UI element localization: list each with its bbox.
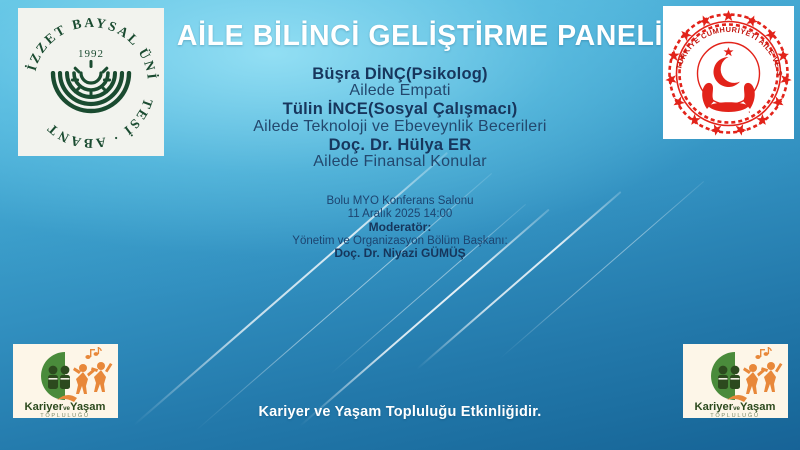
- crescent-icon: [713, 57, 740, 87]
- footer-note: Kariyer ve Yaşam Topluluğu Etkinliğidir.: [0, 404, 800, 420]
- speaker-topic-1: Ailede Empati: [130, 83, 670, 100]
- speaker-name-1: Büşra DİNÇ(Psikolog): [130, 66, 670, 83]
- svg-text:·: ·: [746, 108, 752, 117]
- speaker-name-2: Tülin İNCE(Sosyal Çalışmacı): [130, 101, 670, 118]
- speaker-topic-2: Ailede Teknoloji ve Ebeveynlik Beceriler…: [130, 119, 670, 136]
- hands-base-icon: [708, 102, 749, 112]
- moderator-name: Doç. Dr. Niyazi GÜMÜŞ: [130, 247, 670, 260]
- music-note-icon: [755, 347, 771, 359]
- speaker-name-3: Doç. Dr. Hülya ER: [130, 137, 670, 154]
- event-details: Bolu MYO Konferans Salonu 11 Aralık 2025…: [130, 195, 670, 261]
- speaker-topic-3: Ailede Finansal Konular: [130, 154, 670, 171]
- program-content: Büşra DİNÇ(Psikolog) Ailede Empati Tülin…: [130, 66, 670, 261]
- presentation-slide: İZZET BAYSAL ÜNİVERSİ TESİ · ABANT 1992: [0, 0, 800, 450]
- music-note-icon: [85, 347, 101, 359]
- moderator-label: Moderatör:: [130, 221, 670, 234]
- event-venue: Bolu MYO Konferans Salonu: [130, 195, 670, 208]
- page-title: AİLE BİLİNCİ GELİŞTİRME PANELİ: [0, 20, 800, 53]
- dancing-figures-icon: [743, 362, 782, 394]
